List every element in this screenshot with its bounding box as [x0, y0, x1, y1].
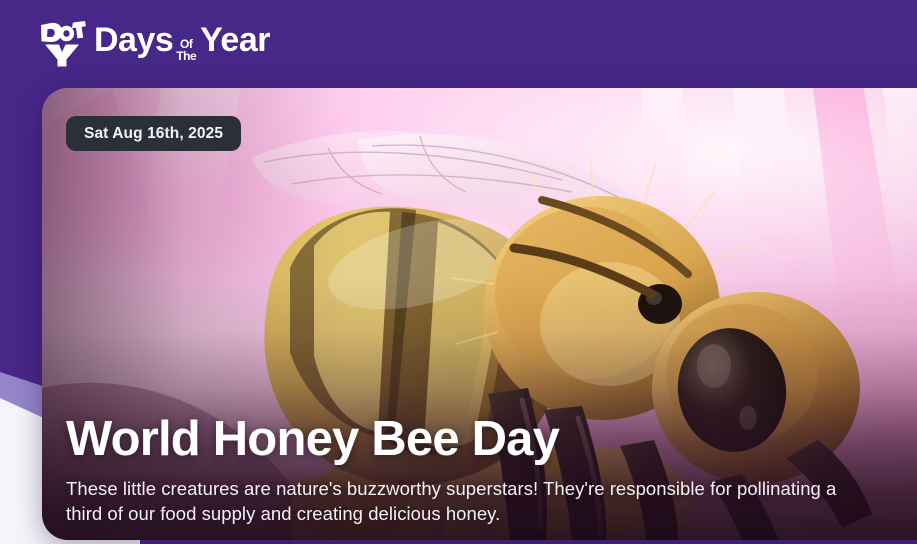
logo-text-the: The	[176, 50, 196, 62]
logo-text-of-the: Of The	[176, 39, 196, 62]
logo-text-days: Days	[94, 23, 173, 57]
page-root: Days Of The Year	[0, 0, 917, 544]
date-badge[interactable]: Sat Aug 16th, 2025	[66, 116, 241, 151]
hero-card[interactable]: Sat Aug 16th, 2025 World Honey Bee Day T…	[42, 88, 917, 540]
logo-text-year: Year	[200, 23, 270, 57]
site-logo-link[interactable]: Days Of The Year	[38, 21, 270, 67]
hero-copy-block: World Honey Bee Day These little creatur…	[66, 410, 902, 526]
dot-y-logo-icon	[38, 21, 86, 67]
hero-description: These little creatures are nature's buzz…	[66, 476, 846, 526]
site-header: Days Of The Year	[0, 0, 917, 88]
page-title: World Honey Bee Day	[66, 410, 902, 468]
logo-wordmark: Days Of The Year	[94, 23, 270, 65]
